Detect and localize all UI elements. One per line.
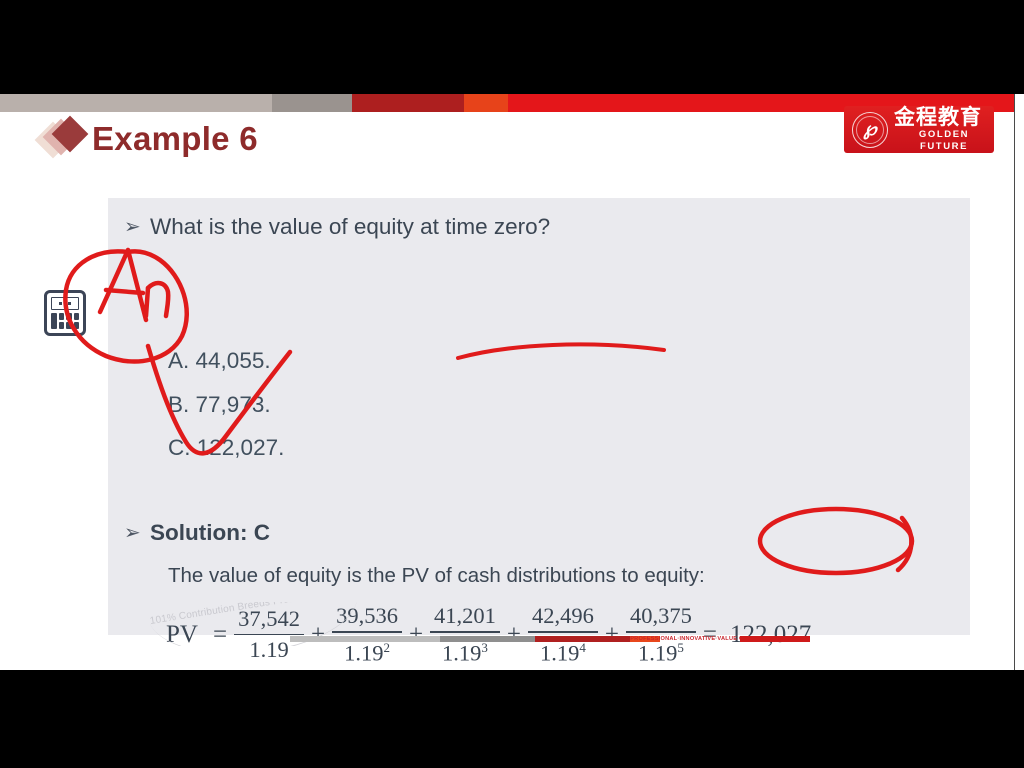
answer-option-b-value: 77,973. [196,392,271,417]
answer-option-b[interactable]: B. 77,973. [168,390,271,420]
diamond-bullet-icon [40,118,92,160]
answer-option-a[interactable]: A. 44,055. [168,346,271,376]
slide-content-panel: ➢ What is the value of equity at time ze… [108,198,970,635]
solution-heading: Solution: C [150,518,270,548]
topbar-segment-1 [0,94,272,112]
calculator-display-dot [68,302,71,305]
calculator-display [51,297,79,310]
botbar-segment-2 [440,636,535,642]
calculator-key [74,322,80,329]
calculator-display-dot [64,302,67,305]
calculator-display-dot [59,302,62,305]
formula-term-5-base: 1.19 [638,640,677,665]
calculator-key [74,313,80,320]
formula-term-3-numerator: 41,201 [430,603,500,629]
slide-right-border [1014,94,1024,670]
arrow-bullet-icon: ➢ [124,518,150,548]
calculator-key [66,322,72,329]
brand-logo: ℘ 金程教育® GOLDEN FUTURE [844,106,994,153]
calculator-key-tall [51,313,57,329]
answer-option-c-value: 122,027. [197,435,285,460]
slide-bottom-color-bar: PROFESSIONAL·INNOVATIVE·VALUE CREATING [290,635,810,643]
logo-english-name: GOLDEN FUTURE [894,129,994,153]
video-player-frame: ℘ 金程教育® GOLDEN FUTURE Example 6 [0,0,1024,768]
calculator-key [59,322,65,329]
botbar-segment-1 [290,636,440,642]
logo-text-block: 金程教育® GOLDEN FUTURE [894,107,994,153]
question-text: What is the value of equity at time zero… [150,212,550,242]
logo-seal-glyph: ℘ [863,120,876,139]
answer-option-c[interactable]: C. 122,027. [168,433,284,463]
footer-tagline: PROFESSIONAL·INNOVATIVE·VALUE CREATING [660,635,740,643]
question-row: ➢ What is the value of equity at time ze… [124,212,550,242]
formula-term-3-base: 1.19 [442,640,481,665]
presentation-slide: ℘ 金程教育® GOLDEN FUTURE Example 6 [0,94,1024,670]
solution-row: ➢ Solution: C [124,518,270,548]
answer-option-b-label: B. [168,392,189,417]
logo-chinese-name: 金程教育® [894,107,994,129]
topbar-segment-2 [272,94,352,112]
logo-chinese-label: 金程教育 [894,106,982,129]
page-title: Example 6 [92,120,258,158]
solution-description: The value of equity is the PV of cash di… [168,562,705,590]
topbar-segment-3 [352,94,464,112]
formula-term-4-numerator: 42,496 [528,603,598,629]
answer-option-c-label: C. [168,435,191,460]
calculator-keypad [51,313,79,329]
logo-seal-icon: ℘ [852,112,888,148]
calculator-key [59,313,65,320]
arrow-bullet-icon: ➢ [124,212,150,242]
slide-title-row: Example 6 [40,118,258,160]
answer-option-a-value: 44,055. [196,348,271,373]
fraction-bar [626,631,696,633]
botbar-segment-3 [535,636,630,642]
logo-trademark: ® [996,106,1003,128]
answer-option-a-label: A. [168,348,189,373]
calculator-key [66,313,72,320]
calculator-icon [44,290,86,336]
formula-term-4-base: 1.19 [540,640,579,665]
topbar-segment-4 [464,94,508,112]
botbar-segment-5 [740,636,810,642]
fraction-bar [528,631,598,633]
fraction-bar [430,631,500,633]
formula-term-5-numerator: 40,375 [626,603,696,629]
